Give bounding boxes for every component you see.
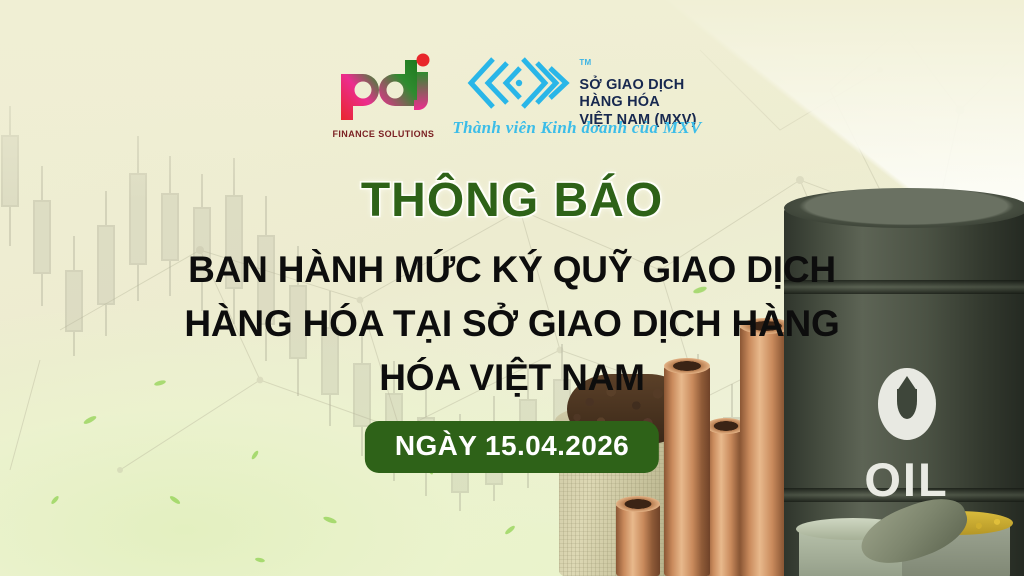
notice-date-badge: NGÀY 15.04.2026 [365,421,659,473]
headline-line-2: HÀNG HÓA TẠI SỞ GIAO DỊCH HÀNG [132,297,892,351]
oil-barrel-label: OIL [864,456,948,503]
mxv-chevron-mark-icon [467,56,571,112]
notice-poster: OIL [0,0,1024,576]
notice-kicker: THÔNG BÁO [0,173,1024,228]
headline-line-3: HÓA VIỆT NAM [132,351,892,405]
trademark-symbol: TM [579,58,591,67]
headline-line-1: BAN HÀNH MỨC KÝ QUỸ GIAO DỊCH [132,243,892,297]
pdj-wordmark-icon [327,52,439,122]
mxv-name-line-2: HÀNG HÓA [579,94,696,112]
mxv-name-line-1: SỞ GIAO DỊCH [579,77,696,95]
mxv-tagline: Thành viên Kinh doanh của MXV [0,118,1024,138]
notice-headline: BAN HÀNH MỨC KÝ QUỸ GIAO DỊCH HÀNG HÓA T… [132,243,892,405]
copper-pipe [616,504,660,576]
